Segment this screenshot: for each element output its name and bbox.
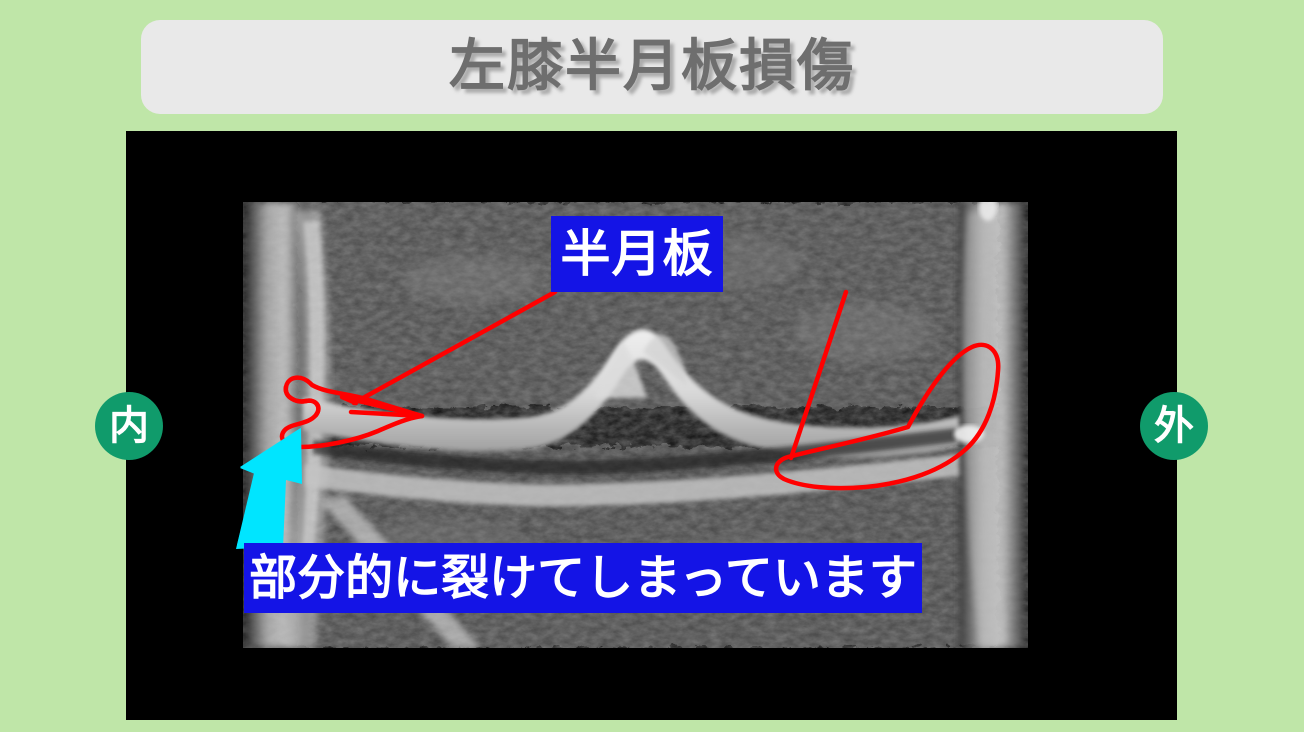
orientation-badge-medial: 内	[95, 392, 163, 460]
tear-caption-text: 部分的に裂けてしまっています	[249, 554, 917, 602]
meniscus-label-text: 半月板	[561, 229, 714, 279]
orientation-badge-lateral: 外	[1140, 392, 1208, 460]
meniscus-label: 半月板	[551, 216, 723, 292]
slide-title-bar: 左膝半月板損傷	[141, 20, 1163, 114]
orientation-badge-medial-text: 内	[109, 406, 149, 446]
orientation-badge-lateral-text: 外	[1154, 406, 1194, 446]
tear-caption: 部分的に裂けてしまっています	[244, 543, 922, 613]
page-title: 左膝半月板損傷	[449, 39, 855, 95]
mri-image-panel: 半月板 部分的に裂けてしまっています	[126, 131, 1177, 720]
